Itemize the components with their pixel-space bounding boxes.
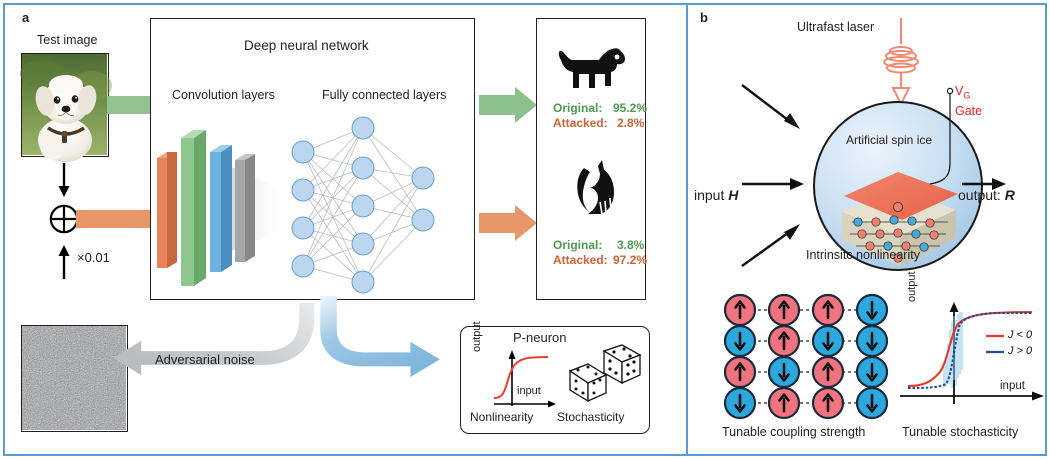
stochasticity-caption: Stochasticity [557, 410, 624, 424]
dog-attacked-label: Attacked: [553, 116, 608, 130]
nonlinearity-plot [468, 348, 558, 410]
cat-attacked-value: 97.2% [613, 253, 647, 267]
legend-label-j-negative: J < 0 [1008, 329, 1032, 341]
chart-x-axis-label: input [1000, 380, 1025, 392]
gate-electrode-icon [938, 86, 962, 196]
cat-original-label: Original: [553, 238, 602, 252]
orange-connector-bar [76, 210, 152, 228]
intrinsic-nonlinearity-label: Intrinsitc nonlinearity [806, 248, 920, 262]
nonlinearity-caption: Nonlinearity [470, 410, 533, 424]
gate-label: Gate [955, 104, 982, 118]
arrow-input-lower [742, 222, 812, 274]
input-label: input H [694, 187, 738, 203]
cat-icon [570, 158, 620, 220]
green-arrow-to-results [479, 87, 539, 127]
conv-layers-label: Convolution layers [172, 88, 275, 102]
dog-photo-graphic [22, 54, 107, 155]
cat-original-value: 3.8% [617, 238, 644, 252]
network-diagram [155, 110, 470, 290]
spin-lattice [722, 293, 890, 421]
stochasticity-chart-caption: Tunable stochasticity [902, 425, 1018, 439]
figure-root: a Test image [0, 0, 1050, 459]
dog-attacked-value: 2.8% [617, 116, 644, 130]
panel-label-a: a [22, 10, 29, 25]
blue-arrow-to-pneuron [300, 300, 460, 390]
legend-label-j-positive: J > 0 [1008, 345, 1032, 357]
arrow-input-middle [742, 175, 812, 193]
output-label: output: R [958, 187, 1015, 203]
stochasticity-chart [900, 300, 1048, 416]
fc-layers-label: Fully connected layers [322, 88, 446, 102]
dog-original-value: 95.2% [613, 101, 647, 115]
dog-original-label: Original: [553, 101, 602, 115]
pneuron-y-axis-label: output [471, 321, 483, 352]
coupling-strength-caption: Tunable coupling strength [722, 425, 865, 439]
pneuron-title: P-neuron [513, 330, 566, 345]
chart-y-axis-label: output [906, 271, 918, 302]
adversarial-noise-image [21, 325, 128, 432]
pneuron-x-axis-label: input [517, 385, 541, 397]
network-title: Deep neural network [244, 38, 369, 53]
arrow-up-noise-scale [53, 243, 75, 279]
panel-divider [686, 5, 688, 454]
sphere-label: Artificial spin ice [846, 133, 932, 147]
multiplier-label: ×0.01 [77, 250, 110, 265]
green-connector-bar [107, 96, 153, 114]
laser-pulse-icon [878, 18, 924, 104]
arrow-down-to-sum [53, 163, 75, 199]
test-image-label: Test image [37, 33, 97, 47]
gate-voltage-label: VG [955, 84, 970, 101]
cat-attacked-label: Attacked: [553, 253, 608, 267]
ultrafast-laser-label: Ultrafast laser [797, 20, 874, 34]
noise-pattern-graphic [22, 326, 126, 430]
test-image [21, 53, 109, 157]
orange-arrow-to-results [479, 205, 539, 245]
adversarial-noise-label: Adversarial noise [155, 352, 255, 367]
dog-icon [555, 38, 629, 96]
arrow-input-upper [742, 85, 812, 137]
dice-icon [566, 345, 644, 405]
panel-label-b: b [700, 10, 708, 25]
